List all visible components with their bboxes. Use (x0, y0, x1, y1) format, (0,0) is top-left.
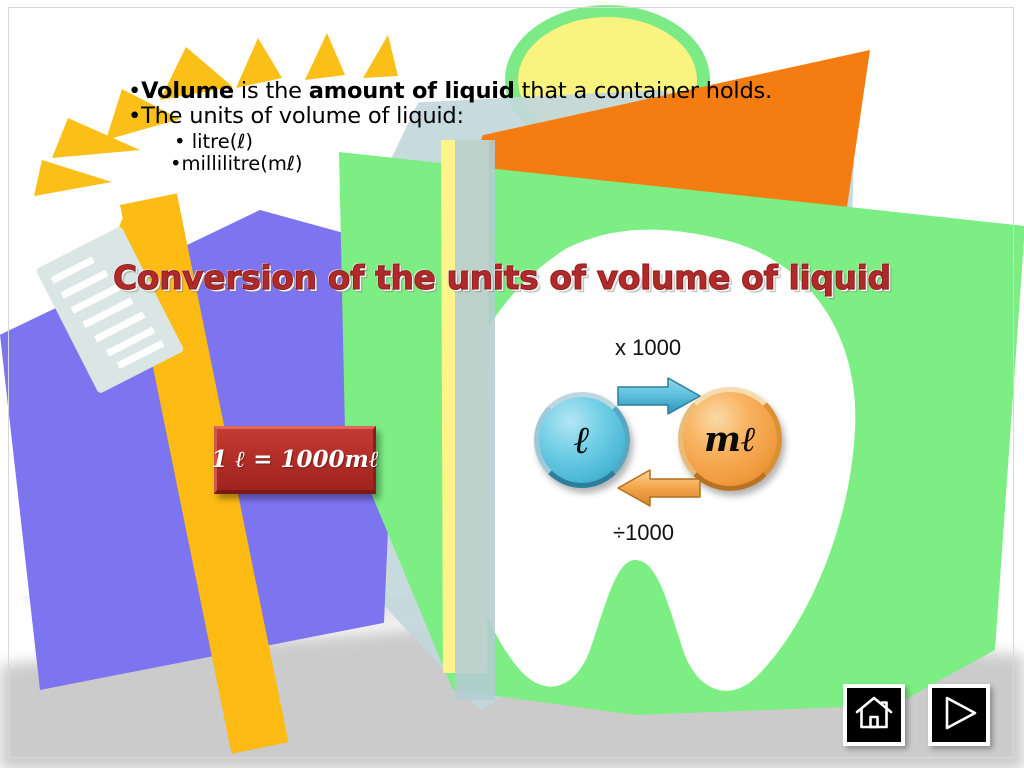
bullet-4-text: millilitre(mℓ) (182, 152, 303, 175)
conversion-formula-text: 1 ℓ = 1000mℓ (211, 446, 378, 473)
arrow-right-icon (616, 376, 702, 416)
arrow-left-icon (616, 468, 702, 508)
bullet-line-3: • litre(ℓ) (174, 132, 858, 152)
home-button[interactable] (843, 684, 905, 746)
litre-symbol: ℓ (574, 417, 590, 463)
multiply-label: x 1000 (615, 335, 681, 361)
conversion-formula-plate: 1 ℓ = 1000mℓ (214, 426, 376, 494)
page-title: Conversion of the units of volume of liq… (113, 258, 873, 297)
pale-blue-band (455, 140, 495, 700)
divide-label: ÷1000 (613, 520, 674, 546)
next-slide-button[interactable] (928, 684, 990, 746)
bullet-1-tail: that a container holds. (515, 78, 772, 104)
bullet-marker-2: • (128, 103, 141, 129)
bullet-line-2: •The units of volume of liquid: (128, 105, 858, 128)
bullet-marker-4: • (170, 152, 182, 175)
bullet-line-4: •millilitre(mℓ) (170, 154, 858, 174)
bullet-1-bold-volume: Volume (141, 78, 234, 104)
bullet-1-bold-amount: amount of liquid (309, 78, 515, 104)
home-icon (854, 695, 894, 735)
bullet-marker-3: • (174, 130, 192, 153)
slide-canvas: •Volume is the amount of liquid that a c… (0, 0, 1024, 768)
play-next-icon (939, 695, 979, 735)
bullet-line-1: •Volume is the amount of liquid that a c… (128, 80, 858, 103)
millilitre-symbol: mℓ (704, 419, 756, 460)
bullet-2-text: The units of volume of liquid: (141, 103, 464, 129)
bullet-1-mid: is the (234, 78, 309, 104)
bullet-3-text: litre(ℓ) (192, 130, 253, 153)
unit-conversion-diagram: x 1000 ÷1000 ℓ mℓ (520, 330, 820, 560)
bullet-marker-1: • (128, 78, 141, 104)
bullet-text-block: •Volume is the amount of liquid that a c… (128, 80, 858, 174)
